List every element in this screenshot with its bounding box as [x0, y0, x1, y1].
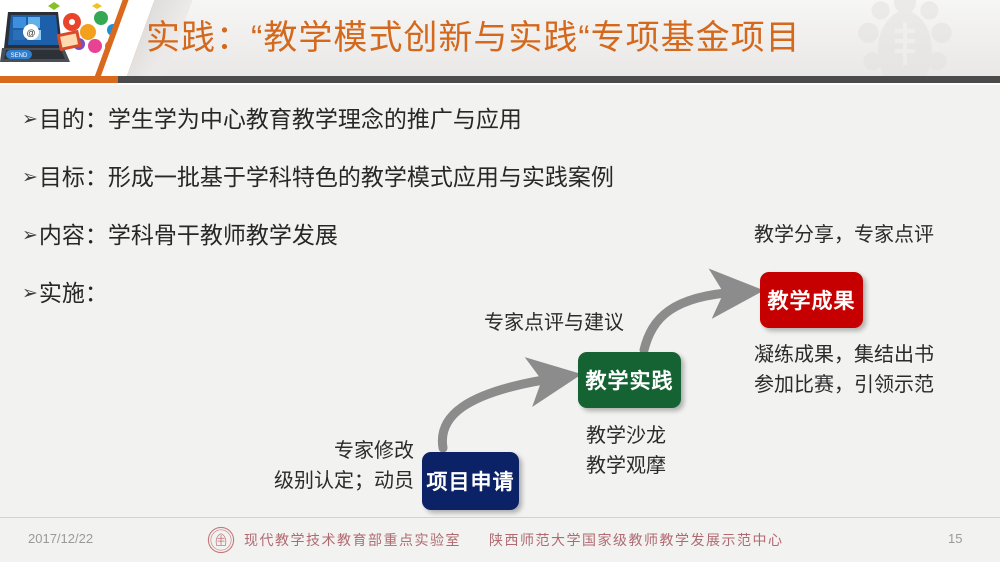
list-item: ➢ 实施： [22, 278, 722, 309]
chevron-right-icon: ➢ [22, 104, 38, 135]
list-item-label: 内容：学科骨干教师教学发展 [39, 220, 338, 250]
list-item: ➢ 内容：学科骨干教师教学发展 [22, 220, 722, 251]
list-item: ➢ 目的：学生学为中心教育教学理念的推广与应用 [22, 104, 722, 135]
caption-teaching-share: 教学分享，专家点评 [754, 220, 934, 250]
header-divider-bar [0, 76, 1000, 83]
slide-canvas: @ SEND 实践：“教学模式创新与实践“专项基金项目 ➢ 目的：学生学为中心教… [0, 0, 1000, 562]
chevron-right-icon: ➢ [22, 278, 38, 309]
chevron-right-icon: ➢ [22, 162, 38, 193]
node-teaching-practice[interactable]: 教学实践 [578, 352, 681, 408]
caption-salon-line1: 教学沙龙 [586, 421, 666, 451]
page-title: 实践：“教学模式创新与实践“专项基金项目 [146, 14, 966, 62]
caption-outcome-block: 凝练成果，集结出书 参加比赛，引领示范 [754, 340, 934, 400]
university-seal-icon [207, 526, 235, 554]
list-item: ➢ 目标：形成一批基于学科特色的教学模式应用与实践案例 [22, 162, 722, 193]
svg-text:@: @ [26, 28, 35, 38]
svg-text:SEND: SEND [11, 53, 28, 59]
footer-org-right: 陕西师范大学国家级教师教学发展示范中心 [489, 534, 784, 549]
header-divider-highlight [0, 83, 1000, 85]
node-project-application[interactable]: 项目申请 [422, 452, 519, 510]
slide-footer: 2017/12/22 现代教学技术教育部重点实验室 陕西师范大学国家级教师教学发… [0, 518, 1000, 562]
chevron-right-icon: ➢ [22, 220, 38, 251]
list-item-label: 目标：形成一批基于学科特色的教学模式应用与实践案例 [39, 162, 614, 192]
caption-outcome-line2: 参加比赛，引领示范 [754, 370, 934, 400]
footer-page-number: 15 [948, 531, 962, 546]
slide-header: @ SEND 实践：“教学模式创新与实践“专项基金项目 [0, 0, 1000, 78]
caption-salon-block: 教学沙龙 教学观摩 [586, 421, 666, 481]
node-teaching-outcome[interactable]: 教学成果 [760, 272, 863, 328]
caption-revise-block: 专家修改 级别认定；动员 [254, 436, 414, 496]
caption-expert-review: 专家点评与建议 [484, 308, 624, 338]
footer-date: 2017/12/22 [28, 531, 93, 546]
footer-org-left: 现代教学技术教育部重点实验室 [244, 534, 461, 549]
list-item-label: 实施： [39, 278, 108, 308]
header-divider-accent [0, 76, 118, 83]
caption-salon-line2: 教学观摩 [586, 451, 666, 481]
caption-revise-line1: 专家修改 [254, 436, 414, 466]
arrow-apply-to-practice [442, 378, 556, 448]
list-item-label: 目的：学生学为中心教育教学理念的推广与应用 [39, 104, 522, 134]
bullet-list: ➢ 目的：学生学为中心教育教学理念的推广与应用 ➢ 目标：形成一批基于学科特色的… [22, 104, 722, 336]
footer-organization: 现代教学技术教育部重点实验室 陕西师范大学国家级教师教学发展示范中心 [244, 530, 784, 550]
caption-outcome-line1: 凝练成果，集结出书 [754, 340, 934, 370]
caption-revise-line2: 级别认定；动员 [254, 466, 414, 496]
